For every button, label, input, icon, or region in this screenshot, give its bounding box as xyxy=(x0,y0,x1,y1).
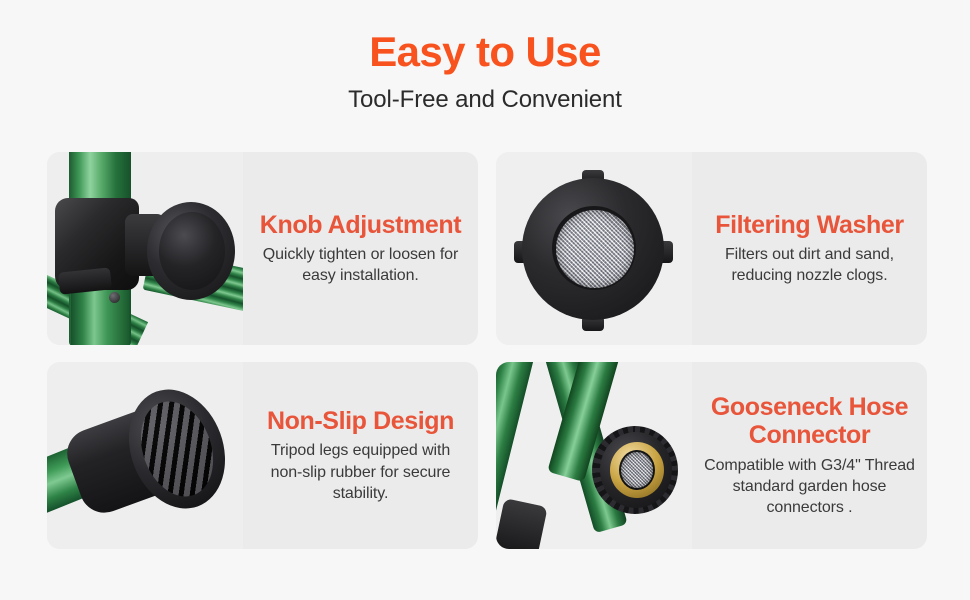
feature-card-gooseneck-hose-connector: Gooseneck Hose Connector Compatible with… xyxy=(496,362,927,549)
card-title: Gooseneck Hose Connector xyxy=(702,393,917,450)
washer-mesh-screen xyxy=(556,210,634,288)
card-description: Filters out dirt and sand, reducing nozz… xyxy=(702,244,917,286)
page-subtitle: Tool-Free and Convenient xyxy=(0,86,970,114)
header: Easy to Use Tool-Free and Convenient xyxy=(0,30,970,114)
non-slip-design-image xyxy=(47,362,243,549)
filtering-washer-copy: Filtering Washer Filters out dirt and sa… xyxy=(692,211,927,286)
feature-card-filtering-washer: Filtering Washer Filters out dirt and sa… xyxy=(496,152,927,345)
card-description: Quickly tighten or loosen for easy insta… xyxy=(253,244,468,286)
feature-card-knob-adjustment: Knob Adjustment Quickly tighten or loose… xyxy=(47,152,478,345)
tripod-joint-block xyxy=(496,498,548,549)
knob-adjustment-copy: Knob Adjustment Quickly tighten or loose… xyxy=(243,211,478,286)
feature-grid: Knob Adjustment Quickly tighten or loose… xyxy=(47,152,927,549)
card-description: Compatible with G3/4" Thread standard ga… xyxy=(702,455,917,518)
infographic-page: Easy to Use Tool-Free and Convenient Kno… xyxy=(0,0,970,600)
card-title: Knob Adjustment xyxy=(253,211,468,239)
knob-adjustment-image xyxy=(47,152,243,345)
non-slip-design-copy: Non-Slip Design Tripod legs equipped wit… xyxy=(243,407,478,504)
feature-card-non-slip-design: Non-Slip Design Tripod legs equipped wit… xyxy=(47,362,478,549)
gooseneck-hose-connector-copy: Gooseneck Hose Connector Compatible with… xyxy=(692,393,927,518)
card-title: Filtering Washer xyxy=(702,211,917,239)
clamp-screw xyxy=(109,292,120,303)
filtering-washer-image xyxy=(496,152,692,345)
card-title: Non-Slip Design xyxy=(253,407,468,435)
gooseneck-hose-connector-image xyxy=(496,362,692,549)
connector-filter-mesh xyxy=(621,452,653,488)
page-title: Easy to Use xyxy=(0,30,970,75)
card-description: Tripod legs equipped with non-slip rubbe… xyxy=(253,440,468,503)
knob-face xyxy=(159,212,225,290)
